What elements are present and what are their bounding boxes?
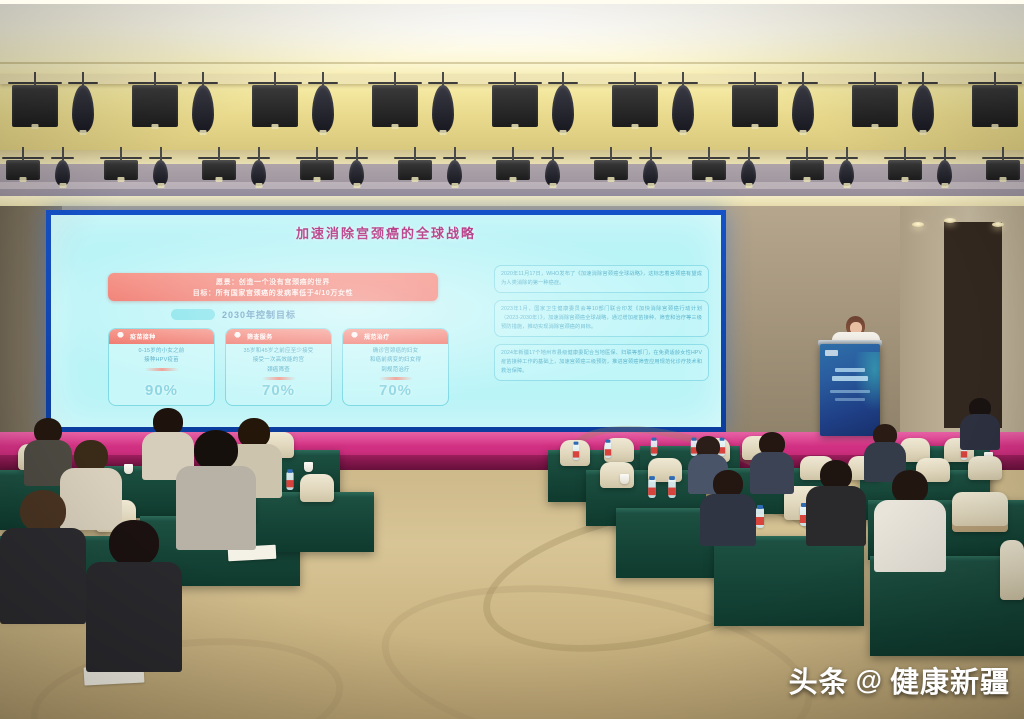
conference-hall-photo: 加速消除宫颈癌的全球战略 愿景：创造一个没有宫颈癌的世界 目标：所有国家宫颈癌的… — [0, 0, 1024, 719]
light-lens — [152, 124, 159, 129]
bottle-label — [668, 488, 676, 496]
podium-text-line — [830, 390, 870, 393]
card-body: 0-15岁的小女之前接种HPV疫苗 — [109, 347, 214, 371]
projection-screen-frame: 加速消除宫颈癌的全球战略 愿景：创造一个没有宫颈癌的世界 目标：所有国家宫颈癌的… — [46, 210, 726, 432]
par-can-light-icon — [741, 160, 756, 186]
slide-title: 加速消除宫颈癌的全球战略 — [51, 223, 721, 242]
par-can-light-icon — [55, 160, 70, 186]
downlight-icon — [944, 218, 956, 223]
slide-card: 筛查服务35岁和45岁之前应至少接受接受一次高效能的宫颈癌筛查70% — [225, 328, 332, 406]
light-lens — [200, 130, 207, 135]
water-bottle — [573, 444, 579, 460]
slide-note: 2024年新疆17个地州市县级健康委配合当地医保、妇联等部门，在免费适龄女性HP… — [494, 344, 709, 381]
par-can-light-icon — [312, 85, 334, 133]
water-bottle — [668, 479, 676, 498]
par-can-light-icon — [153, 160, 168, 186]
stage-light-icon — [496, 160, 530, 180]
par-can-light-icon — [447, 160, 462, 186]
slide-vision-banner: 愿景：创造一个没有宫颈癌的世界 目标：所有国家宫颈癌的发病率低于4/10万女性 — [108, 273, 438, 301]
par-can-light-icon — [643, 160, 658, 186]
light-housing — [492, 85, 538, 127]
watermark-at-icon: @ — [856, 665, 883, 696]
card-value: 70% — [343, 382, 448, 399]
card-divider — [379, 377, 413, 380]
audience-member — [960, 398, 1000, 454]
stage-light-icon — [986, 160, 1020, 180]
stage-light-icon — [104, 160, 138, 180]
podium-text-line — [835, 368, 865, 372]
slide-note: 2020年11月17日，WHO发布了《加速消除宫颈癌全球战略》，这标志着宫颈癌有… — [494, 265, 709, 293]
projection-screen: 加速消除宫颈癌的全球战略 愿景：创造一个没有宫颈癌的世界 目标：所有国家宫颈癌的… — [51, 215, 721, 427]
stage-light-icon — [252, 85, 298, 127]
card-header: 疫苗接种 — [109, 329, 214, 344]
bottle-cap — [757, 505, 763, 509]
person-icon — [350, 332, 359, 341]
card-body-line: 颈癌筛查 — [233, 366, 324, 374]
bottle-label — [605, 449, 611, 455]
light-lens — [314, 177, 321, 182]
watermark-account: 健康新疆 — [890, 659, 1010, 701]
person-torso — [176, 466, 256, 550]
person-torso — [700, 494, 756, 546]
light-housing — [792, 85, 814, 133]
light-housing — [72, 85, 94, 133]
water-bottle — [648, 479, 656, 498]
light-lens — [632, 124, 639, 129]
banner-line-1: 愿景：创造一个没有宫颈癌的世界 — [216, 277, 330, 287]
card-header-label: 疫苗接种 — [130, 332, 156, 341]
person-torso — [86, 562, 182, 672]
water-bottle — [605, 442, 611, 458]
light-lens — [941, 183, 948, 188]
slide-note-text: 2024年新疆17个地州市县级健康委配合当地医保、妇联等部门，在免费适龄女性HP… — [501, 349, 702, 376]
light-lens — [272, 124, 279, 129]
watermark: 头条 @ 健康新疆 — [789, 659, 1010, 701]
slide-note-text: 2023年1月，国家卫生健康委员会等10部门联合印发《加快消除宫颈癌行动计划（2… — [501, 305, 702, 332]
stage-light-icon — [300, 160, 334, 180]
chair — [968, 456, 1002, 480]
card-value: 90% — [109, 382, 214, 399]
par-can-light-icon — [545, 160, 560, 186]
card-header: 规范治疗 — [343, 329, 448, 344]
podium — [820, 344, 880, 436]
light-housing — [432, 85, 454, 133]
stage-light-icon — [372, 85, 418, 127]
light-housing — [732, 85, 778, 127]
audience-member — [176, 430, 256, 554]
paper-cup — [304, 462, 313, 472]
goal-label-row: 2030年控制目标 — [171, 308, 296, 321]
light-lens — [752, 124, 759, 129]
light-lens — [412, 177, 419, 182]
slide-card: 疫苗接种0-15岁的小女之前接种HPV疫苗90% — [108, 328, 215, 406]
person-torso — [0, 528, 86, 624]
card-header: 筛查服务 — [226, 329, 331, 344]
light-lens — [80, 130, 87, 135]
audience-member — [0, 490, 86, 628]
person-torso — [750, 452, 794, 494]
person-head — [109, 520, 159, 566]
light-housing — [972, 85, 1018, 127]
person-head — [892, 470, 928, 504]
slide-note: 2023年1月，国家卫生健康委员会等10部门联合印发《加快消除宫颈癌行动计划（2… — [494, 300, 709, 337]
card-header-label: 筛查服务 — [247, 332, 273, 341]
audience-member — [86, 520, 182, 676]
card-body-line: 和癌前病变的妇女得 — [350, 356, 441, 364]
light-housing — [132, 85, 178, 127]
light-housing — [312, 85, 334, 133]
watermark-brand: 头条 — [789, 659, 849, 701]
light-housing — [612, 85, 658, 127]
light-lens — [392, 124, 399, 129]
stage-light-icon — [132, 85, 178, 127]
stage-light-icon — [202, 160, 236, 180]
banner-line-2: 目标：所有国家宫颈癌的发病率低于4/10万女性 — [193, 288, 353, 298]
par-can-light-icon — [792, 85, 814, 133]
paper-cup — [124, 464, 133, 474]
podium-teal-glow — [854, 352, 880, 412]
light-lens — [745, 183, 752, 188]
water-bottle — [651, 440, 657, 456]
card-body: 35岁和45岁之前应至少接受接受一次高效能的宫颈癌筛查 — [226, 347, 331, 380]
card-body: 确诊宫颈癌的妇女和癌前病变的妇女得到规范治疗 — [343, 347, 448, 380]
bottle-label — [648, 488, 656, 496]
par-can-light-icon — [251, 160, 266, 186]
light-lens — [843, 183, 850, 188]
light-lens — [320, 130, 327, 135]
light-lens — [20, 177, 27, 182]
light-lens — [872, 124, 879, 129]
stage-light-icon — [492, 85, 538, 127]
slide-note-boxes: 2020年11月17日，WHO发布了《加速消除宫颈癌全球战略》，这标志着宫颈癌有… — [494, 265, 709, 381]
chair — [952, 492, 1008, 532]
downlight-icon — [912, 222, 924, 227]
light-housing — [12, 85, 58, 127]
podium-text-line — [832, 376, 868, 381]
light-lens — [647, 183, 654, 188]
paper-cup — [620, 474, 629, 484]
light-housing — [852, 85, 898, 127]
par-can-light-icon — [72, 85, 94, 133]
light-lens — [353, 183, 360, 188]
person-torso — [874, 500, 946, 572]
light-lens — [902, 177, 909, 182]
card-body-line: 确诊宫颈癌的妇女 — [350, 347, 441, 355]
person-torso — [806, 486, 866, 546]
light-lens — [800, 130, 807, 135]
light-lens — [608, 177, 615, 182]
light-lens — [1000, 177, 1007, 182]
par-can-light-icon — [349, 160, 364, 186]
person-icon — [233, 332, 242, 341]
person-icon — [116, 332, 125, 341]
podium-logo — [825, 350, 838, 356]
ceiling-seam — [0, 62, 1024, 64]
card-body-line: 0-15岁的小女之前 — [116, 347, 207, 355]
stage-light-icon — [852, 85, 898, 127]
stage-light-icon — [12, 85, 58, 127]
light-lens — [804, 177, 811, 182]
chair — [300, 474, 334, 502]
card-body-line: 到规范治疗 — [350, 366, 441, 374]
light-housing — [912, 85, 934, 133]
audience-member — [806, 460, 866, 550]
light-lens — [512, 124, 519, 129]
light-housing — [672, 85, 694, 133]
chair — [1000, 540, 1024, 600]
light-lens — [216, 177, 223, 182]
slide-card: 规范治疗确诊宫颈癌的妇女和癌前病变的妇女得到规范治疗70% — [342, 328, 449, 406]
bottle-label — [651, 447, 657, 453]
goal-pill-decor — [171, 309, 215, 320]
water-bottle — [756, 508, 764, 528]
card-divider — [145, 368, 179, 371]
light-housing — [552, 85, 574, 133]
stage-light-icon — [790, 160, 824, 180]
par-can-light-icon — [937, 160, 952, 186]
top-light-edge — [0, 0, 1024, 4]
bottle-label — [286, 480, 293, 487]
light-housing — [192, 85, 214, 133]
card-body-line: 接受一次高效能的宫 — [233, 356, 324, 364]
person-head — [194, 430, 238, 470]
card-divider — [262, 377, 296, 380]
light-lens — [451, 183, 458, 188]
card-body-line: 35岁和45岁之前应至少接受 — [233, 347, 324, 355]
stage-light-icon — [398, 160, 432, 180]
bottle-label — [573, 451, 579, 457]
light-lens — [59, 183, 66, 188]
audience-member — [750, 432, 794, 498]
water-bottle — [286, 472, 293, 490]
light-lens — [255, 183, 262, 188]
card-header-label: 规范治疗 — [364, 332, 390, 341]
bottle-cap — [652, 438, 657, 441]
card-value: 70% — [226, 382, 331, 399]
light-lens — [440, 130, 447, 135]
light-lens — [560, 130, 567, 135]
stage-light-icon — [732, 85, 778, 127]
slide-note-text: 2020年11月17日，WHO发布了《加速消除宫颈癌全球战略》，这标志着宫颈癌有… — [501, 270, 702, 288]
carpet-pattern — [24, 624, 349, 719]
stage-light-icon — [594, 160, 628, 180]
light-lens — [992, 124, 999, 129]
light-lens — [549, 183, 556, 188]
stage-light-icon — [888, 160, 922, 180]
downlight-icon — [992, 222, 1004, 227]
light-lens — [680, 130, 687, 135]
par-can-light-icon — [912, 85, 934, 133]
bottle-cap — [606, 440, 611, 443]
bottle-label — [756, 517, 764, 525]
par-can-light-icon — [552, 85, 574, 133]
stage-light-icon — [6, 160, 40, 180]
audience-member — [874, 470, 946, 576]
person-torso — [960, 414, 1000, 450]
podium-text-line — [835, 398, 865, 401]
par-can-light-icon — [192, 85, 214, 133]
light-lens — [118, 177, 125, 182]
light-lens — [920, 130, 927, 135]
stage-light-icon — [692, 160, 726, 180]
light-lens — [706, 177, 713, 182]
card-body-line: 接种HPV疫苗 — [116, 356, 207, 364]
bottle-cap — [574, 442, 579, 445]
par-can-light-icon — [672, 85, 694, 133]
stage-light-icon — [612, 85, 658, 127]
goal-label: 2030年控制目标 — [222, 308, 296, 321]
slide-target-cards: 疫苗接种0-15岁的小女之前接种HPV疫苗90%筛查服务35岁和45岁之前应至少… — [108, 328, 449, 406]
par-can-light-icon — [839, 160, 854, 186]
audience-member — [700, 470, 756, 550]
stage-light-icon — [972, 85, 1018, 127]
light-housing — [372, 85, 418, 127]
light-lens — [32, 124, 39, 129]
light-housing — [252, 85, 298, 127]
person-head — [20, 490, 66, 532]
light-lens — [157, 183, 164, 188]
bottle-cap — [649, 476, 655, 480]
bottle-cap — [669, 476, 675, 480]
light-lens — [510, 177, 517, 182]
par-can-light-icon — [432, 85, 454, 133]
bottle-cap — [287, 469, 292, 473]
